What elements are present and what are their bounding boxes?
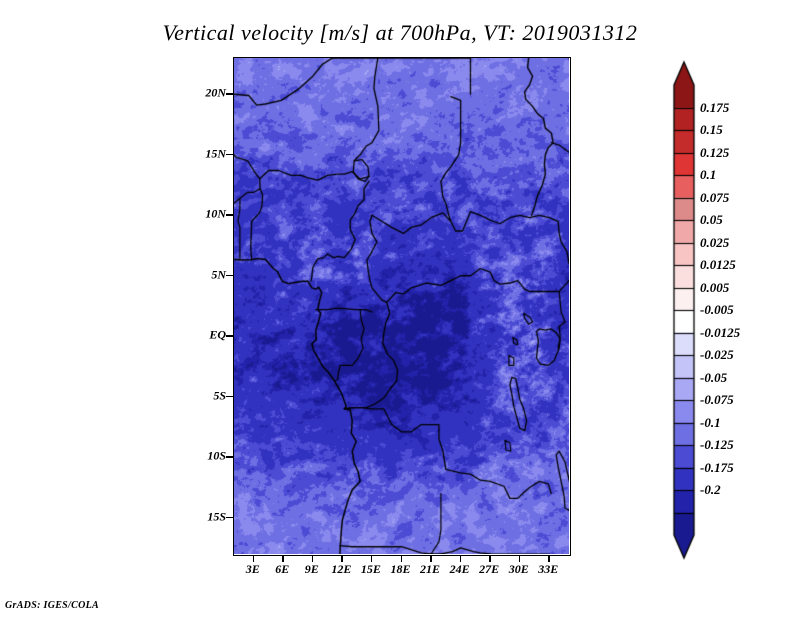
colorbar-tick-label: -0.1 [700, 415, 721, 431]
colorbar-tick-label: -0.075 [700, 392, 734, 408]
x-axis-tick-mark [430, 556, 432, 562]
x-axis-tick-mark [460, 556, 462, 562]
y-axis-labels: 20N15N10N5NEQ5S10S15S [180, 57, 226, 556]
x-axis-tick-label: 6E [275, 562, 289, 577]
x-axis-labels: 3E6E9E12E15E18E21E24E27E30E33E [0, 562, 800, 582]
colorbar-tick-label: 0.075 [700, 190, 729, 206]
x-axis-tick-mark [282, 556, 284, 562]
colorbar-tick-label: 0.025 [700, 235, 729, 251]
x-axis-tick-label: 24E [450, 562, 470, 577]
colorbar [671, 60, 697, 560]
y-axis-tick-mark [226, 93, 233, 95]
y-axis-tick-label: 15S [207, 509, 226, 524]
x-axis-tick-label: 18E [390, 562, 410, 577]
x-axis-tick-mark [519, 556, 521, 562]
colorbar-tick-label: -0.0125 [700, 325, 740, 341]
y-axis-tick-label: 20N [205, 86, 226, 101]
colorbar-tick-label: 0.05 [700, 212, 723, 228]
colorbar-tick-label: -0.175 [700, 460, 734, 476]
colorbar-tick-label: 0.125 [700, 145, 729, 161]
x-axis-tick-label: 12E [331, 562, 351, 577]
colorbar-tick-label: 0.005 [700, 280, 729, 296]
y-axis-tick-label: 10S [207, 449, 226, 464]
y-axis-tick-mark [226, 154, 233, 156]
grads-credit: GrADS: IGES/COLA [5, 600, 99, 611]
x-axis-tick-label: 9E [305, 562, 319, 577]
colorbar-tick-label: 0.175 [700, 100, 729, 116]
x-axis-tick-label: 33E [538, 562, 558, 577]
y-axis-tick-mark [226, 275, 233, 277]
y-axis-tick-label: 5N [211, 267, 226, 282]
x-axis-tick-mark [401, 556, 403, 562]
y-axis-tick-label: 15N [205, 146, 226, 161]
x-axis-tick-mark [371, 556, 373, 562]
y-axis-tick-mark [226, 335, 233, 337]
y-axis-tick-mark [226, 396, 233, 398]
y-axis-tick-mark [226, 517, 233, 519]
x-axis-tick-mark [341, 556, 343, 562]
y-axis-tick-mark [226, 456, 233, 458]
colorbar-labels: 0.1750.150.1250.10.0750.050.0250.01250.0… [700, 60, 796, 560]
colorbar-tick-label: 0.15 [700, 122, 723, 138]
y-axis-tick-label: EQ [209, 328, 226, 343]
vertical-velocity-field [234, 58, 569, 554]
x-axis-tick-label: 27E [479, 562, 499, 577]
x-axis-tick-label: 30E [509, 562, 529, 577]
colorbar-tick-label: 0.1 [700, 167, 716, 183]
colorbar-tick-label: 0.0125 [700, 257, 736, 273]
map-plot-area [233, 57, 571, 556]
colorbar-tick-label: -0.2 [700, 482, 721, 498]
colorbar-tick-label: -0.025 [700, 347, 734, 363]
colorbar-gradient [671, 60, 697, 560]
y-axis-tick-label: 5S [213, 388, 226, 403]
x-axis-tick-mark [253, 556, 255, 562]
x-axis-tick-mark [548, 556, 550, 562]
colorbar-tick-label: -0.05 [700, 370, 727, 386]
x-axis-tick-label: 3E [246, 562, 260, 577]
x-axis-tick-mark [312, 556, 314, 562]
colorbar-tick-label: -0.125 [700, 437, 734, 453]
x-axis-tick-label: 21E [420, 562, 440, 577]
page-title: Vertical velocity [m/s] at 700hPa, VT: 2… [0, 20, 800, 46]
y-axis-tick-label: 10N [205, 207, 226, 222]
y-axis-tick-mark [226, 214, 233, 216]
x-axis-tick-mark [489, 556, 491, 562]
colorbar-tick-label: -0.005 [700, 302, 734, 318]
x-axis-tick-label: 15E [361, 562, 381, 577]
